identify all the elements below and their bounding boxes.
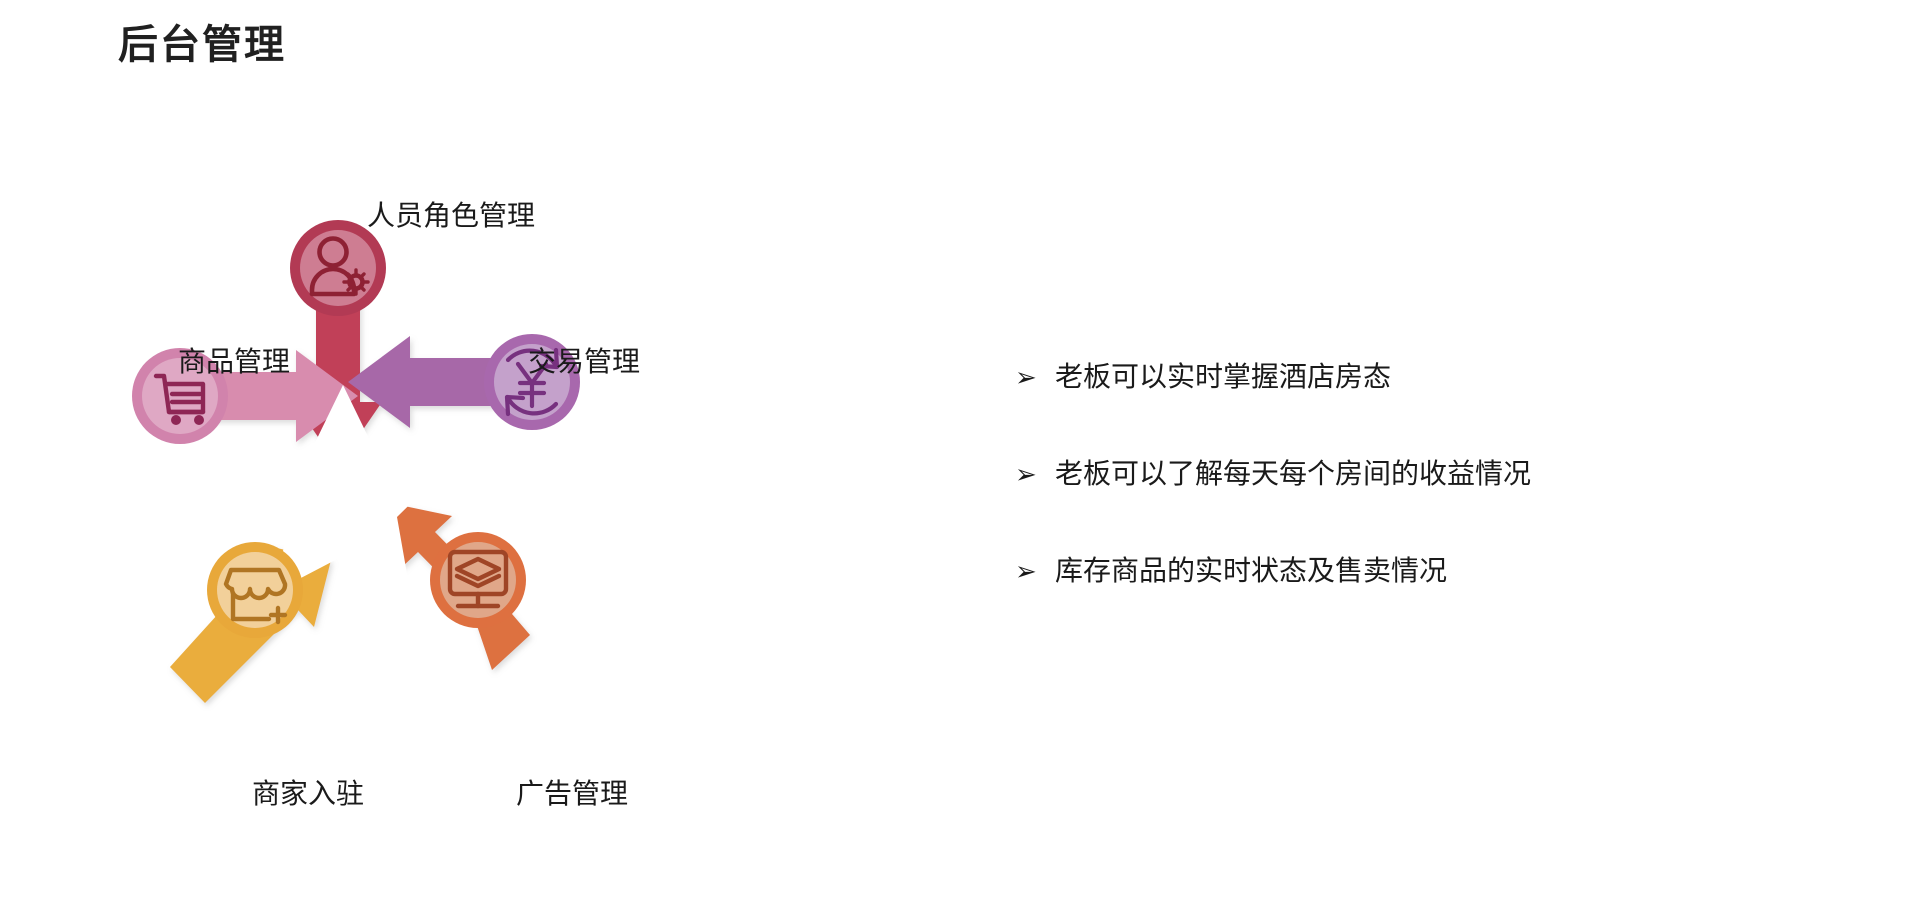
node-ads[interactable] [430,532,526,628]
feature-bullet-list: ➢ 老板可以实时掌握酒店房态 ➢ 老板可以了解每天每个房间的收益情况 ➢ 库存商… [1015,360,1815,651]
list-item-text: 老板可以了解每天每个房间的收益情况 [1055,457,1531,491]
page-title: 后台管理 [118,12,286,70]
node-person-role[interactable] [290,220,386,316]
node-label-goods: 商品管理 [178,348,290,376]
radial-star-diagram: 人员角色管理 商品管理 交易管理 商家入驻 广告管理 [100,180,840,860]
node-label-trade: 交易管理 [528,348,640,376]
list-item: ➢ 老板可以了解每天每个房间的收益情况 [1015,457,1815,491]
node-merchant[interactable] [207,542,303,638]
list-item: ➢ 库存商品的实时状态及售卖情况 [1015,554,1815,588]
list-item: ➢ 老板可以实时掌握酒店房态 [1015,360,1815,394]
node-label-ads: 广告管理 [516,780,628,808]
node-label-person-role: 人员角色管理 [367,202,535,230]
node-label-merchant: 商家入驻 [252,780,364,808]
list-item-text: 老板可以实时掌握酒店房态 [1055,360,1391,394]
arrow-bullet-icon: ➢ [1015,457,1055,491]
list-item-text: 库存商品的实时状态及售卖情况 [1055,554,1447,588]
arrow-bullet-icon: ➢ [1015,360,1055,394]
diagram-graphic [100,180,840,860]
arrow-bullet-icon: ➢ [1015,554,1055,588]
